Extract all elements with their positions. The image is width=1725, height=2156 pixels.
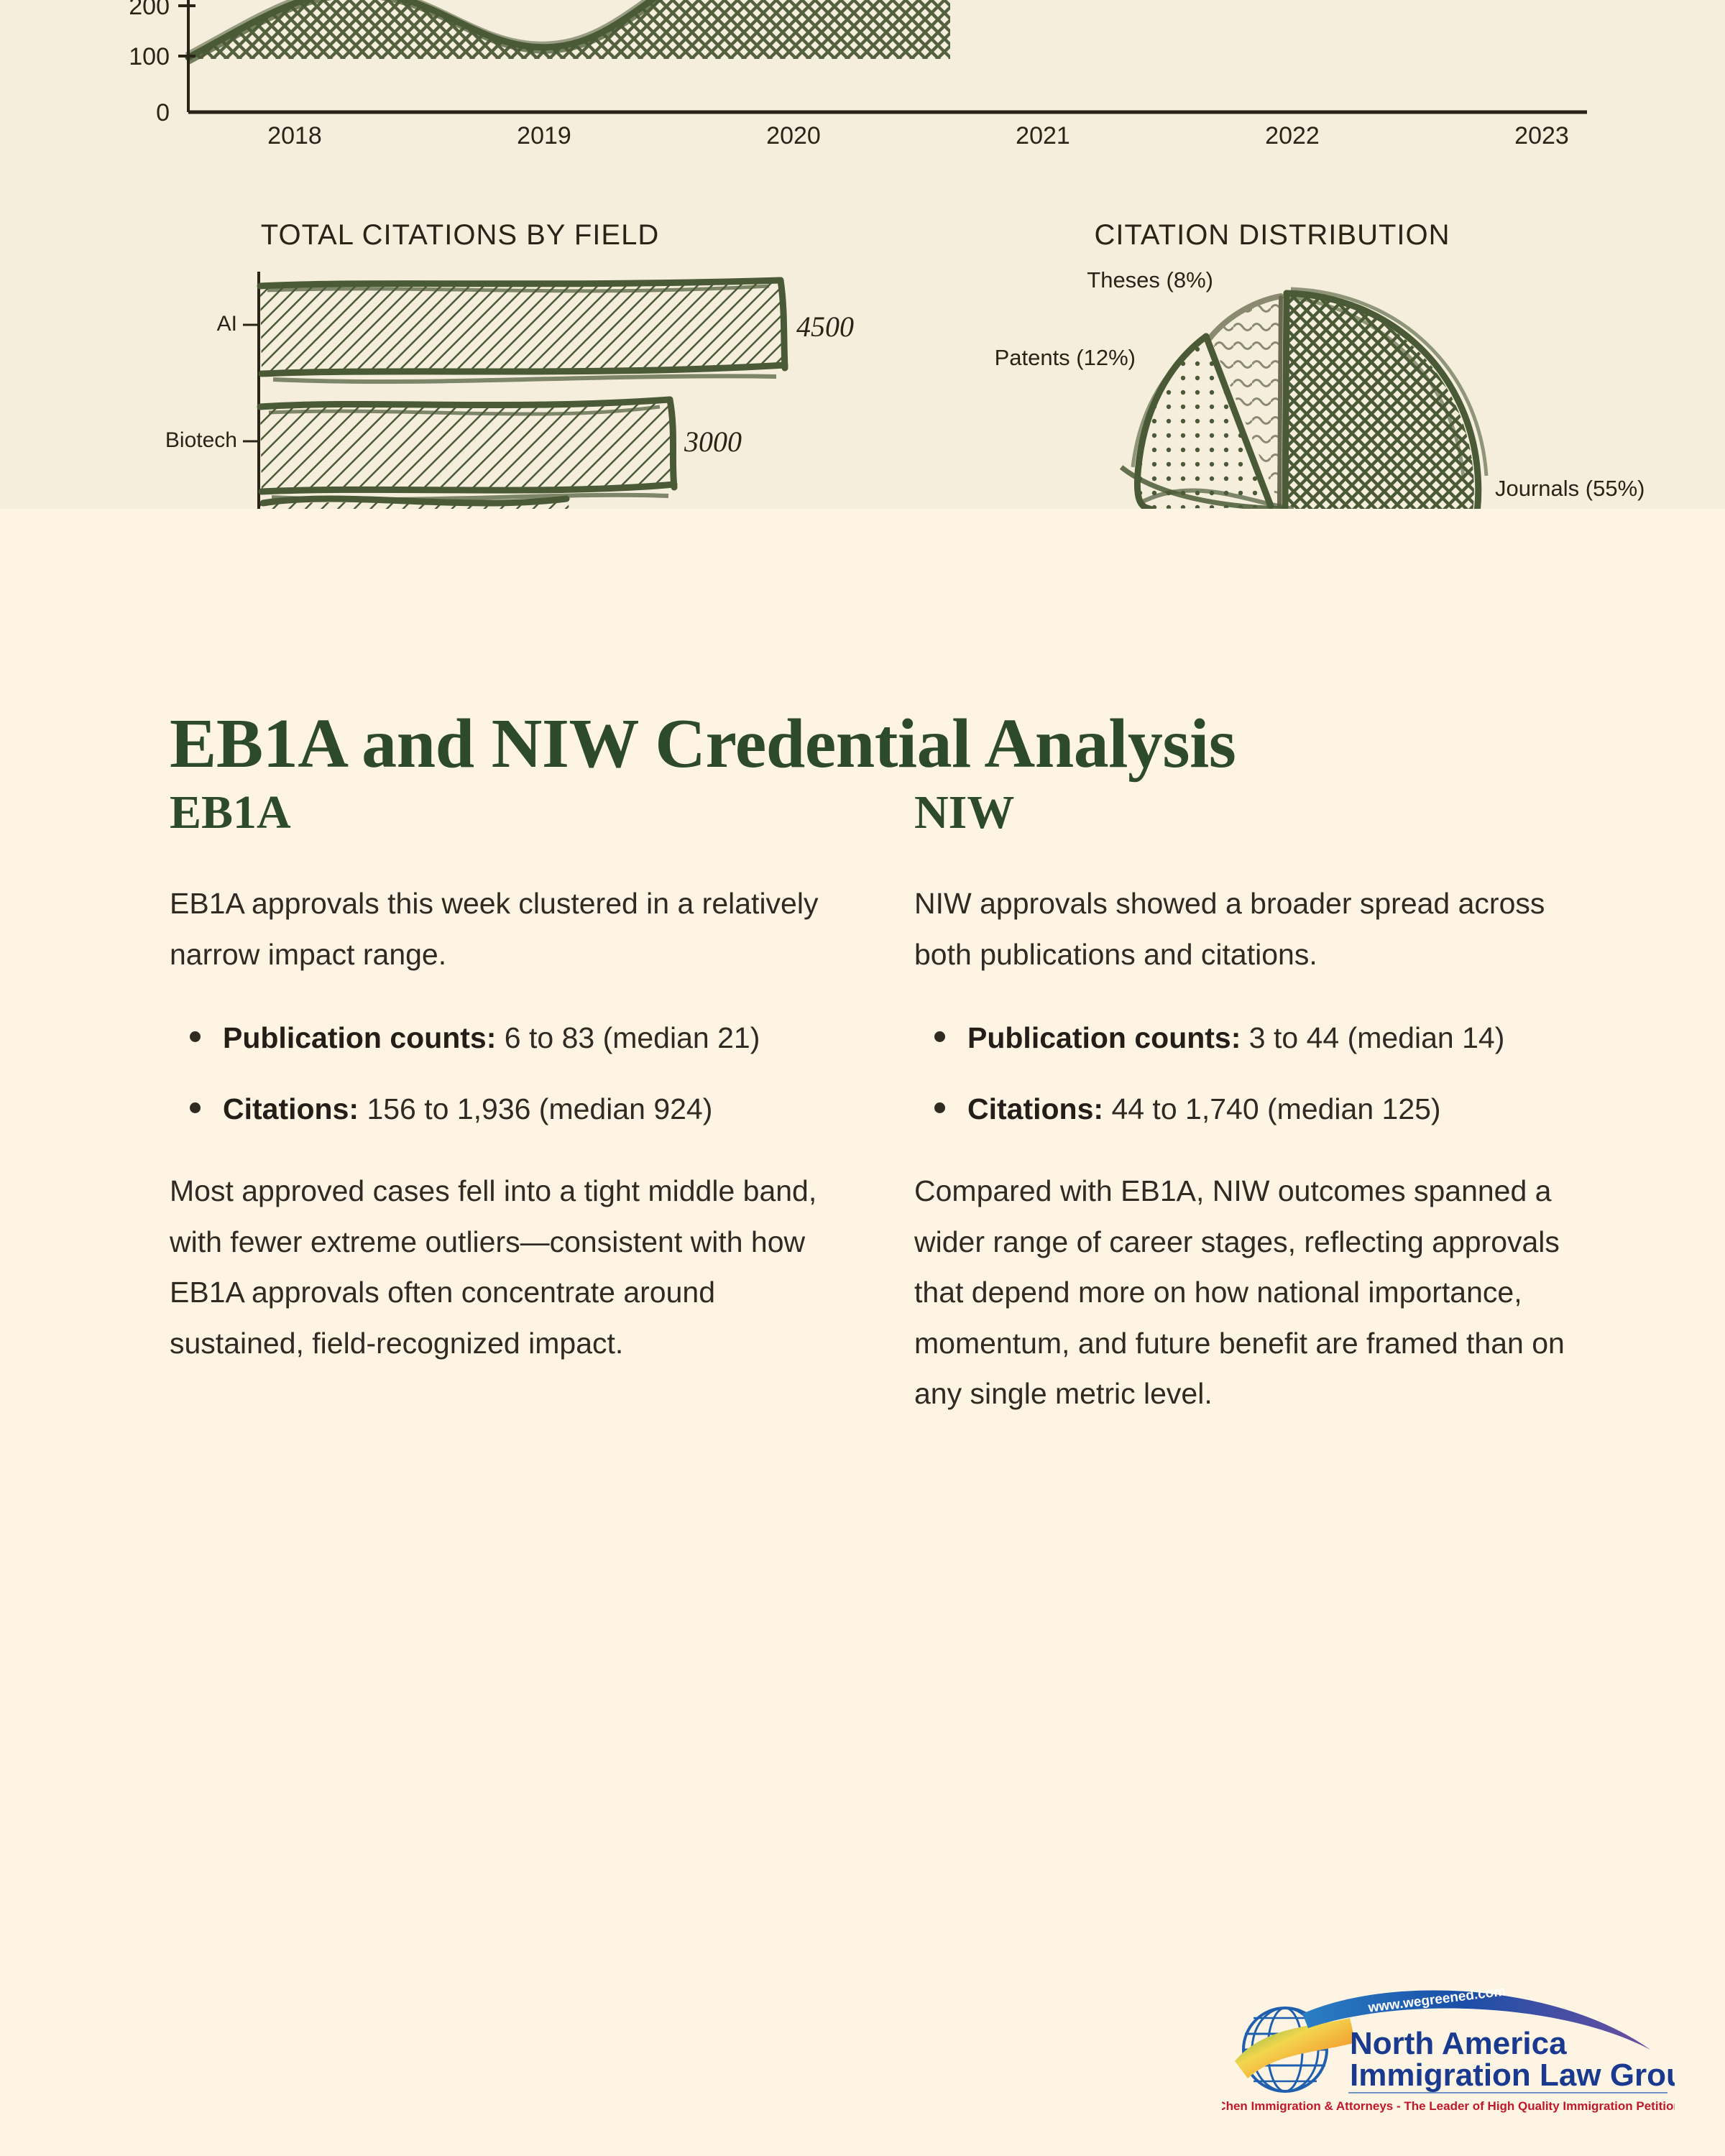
company-logo: www.wegreened.com North America Immigrat… [1222,1984,1675,2120]
line-xtick-2021: 2021 [1016,122,1070,149]
pie-label-patents: Patents (12%) [995,345,1136,370]
logo-tagline: Chen Immigration & Attorneys - The Leade… [1222,2099,1675,2113]
eb1a-bullet-0-value: 6 to 83 (median 21) [496,1021,760,1054]
list-item: Citations: 156 to 1,936 (median 924) [223,1084,820,1135]
pie-chart-title: CITATION DISTRIBUTION [1094,219,1450,251]
bar-chart-title: TOTAL CITATIONS BY FIELD [261,219,659,251]
eb1a-intro-paragraph: EB1A approvals this week clustered in a … [170,878,820,980]
niw-bullet-0-label: Publication counts: [967,1021,1241,1054]
bar-ai [260,280,785,382]
line-xtick-2023: 2023 [1514,122,1569,149]
bar-cat-biotech: Biotech [165,428,237,452]
bar-cat-ai: AI [217,312,237,336]
line-xtick-2018: 2018 [267,122,322,149]
line-xtick-2022: 2022 [1265,122,1320,149]
niw-stats-list: Publication counts: 3 to 44 (median 14) … [914,1013,1565,1134]
document-body: EB1A and NIW Credential Analysis EB1A EB… [0,509,1725,2156]
niw-outro-paragraph: Compared with EB1A, NIW outcomes spanned… [914,1166,1565,1419]
line-chart: 200 100 0 2018 2019 2020 2021 2022 2023 [129,0,1587,149]
eb1a-bullet-1-value: 156 to 1,936 (median 924) [359,1092,712,1125]
niw-intro-paragraph: NIW approvals showed a broader spread ac… [914,878,1565,980]
line-ytick-200: 200 [129,0,170,20]
column-heading-niw: NIW [914,789,1565,837]
pie-chart: CITATION DISTRIBUTION [995,219,1645,509]
bar-value-ai: 4500 [796,310,854,343]
column-niw: NIW NIW approvals showed a broader sprea… [914,789,1565,1452]
column-eb1a: EB1A EB1A approvals this week clustered … [170,789,820,1401]
column-heading-eb1a: EB1A [170,789,820,837]
pie-label-theses: Theses (8%) [1087,267,1213,292]
niw-bullet-0-value: 3 to 44 (median 14) [1241,1021,1504,1054]
niw-bullet-1-value: 44 to 1,740 (median 125) [1103,1092,1441,1125]
line-ytick-0: 0 [156,99,170,126]
page-title: EB1A and NIW Credential Analysis [170,704,1236,784]
bar-biotech [260,400,674,499]
logo-line2: Immigration Law Group [1350,2058,1675,2093]
pie-slice-journals [1281,289,1486,509]
ribbon-icon [1235,2018,1356,2078]
charts-band: 200 100 0 2018 2019 2020 2021 2022 2023 … [0,0,1725,509]
line-xtick-2020: 2020 [766,122,821,149]
niw-bullet-1-label: Citations: [967,1092,1103,1125]
eb1a-outro-paragraph: Most approved cases fell into a tight mi… [170,1166,820,1368]
line-ytick-100: 100 [129,43,170,70]
list-item: Publication counts: 3 to 44 (median 14) [967,1013,1565,1064]
list-item: Publication counts: 6 to 83 (median 21) [223,1013,820,1064]
logo-line1: North America [1350,2026,1567,2061]
bar-cropped [260,499,569,509]
line-xtick-2019: 2019 [517,122,571,149]
bar-chart: TOTAL CITATIONS BY FIELD AI 4500 [165,219,854,509]
bar-value-biotech: 3000 [684,425,742,458]
logo-url: www.wegreened.com [1367,1984,1507,2015]
pie-label-journals: Journals (55%) [1495,476,1644,501]
eb1a-bullet-1-label: Citations: [223,1092,359,1125]
eb1a-stats-list: Publication counts: 6 to 83 (median 21) … [170,1013,820,1134]
eb1a-bullet-0-label: Publication counts: [223,1021,496,1054]
list-item: Citations: 44 to 1,740 (median 125) [967,1084,1565,1135]
